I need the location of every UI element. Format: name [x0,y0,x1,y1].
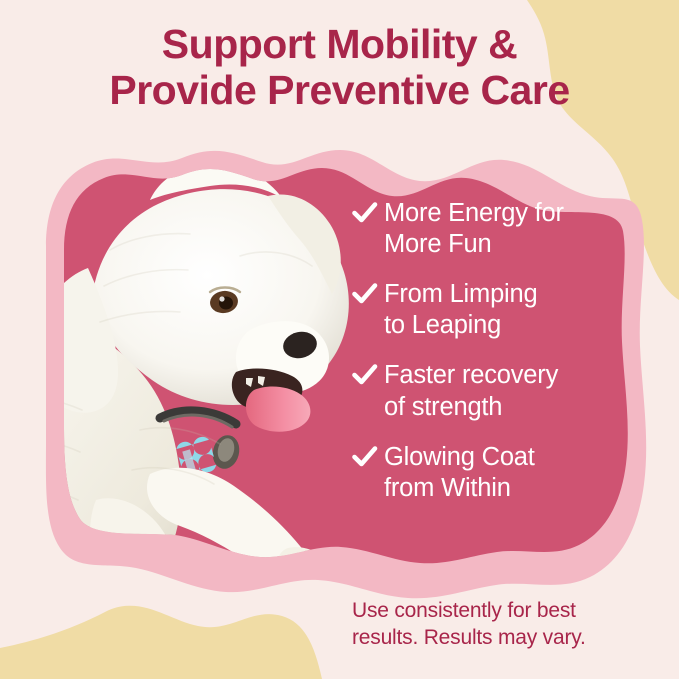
benefit-line-2: to Leaping [384,311,501,339]
benefits-list: More Energy for More Fun From Limping to… [352,198,652,523]
paw-pad [288,583,331,618]
benefit-line-1: More Energy for [384,199,564,227]
benefit-text: From Limping to Leaping [384,279,537,341]
check-icon [352,283,384,304]
check-icon [352,364,384,385]
list-item: More Energy for More Fun [352,198,652,260]
check-icon [352,446,384,467]
heading-line-2: Provide Preventive Care [0,68,679,114]
heading-line-1: Support Mobility & [0,22,679,68]
benefit-line-2: of strength [384,393,502,421]
dog-legs [20,468,338,632]
page-title: Support Mobility & Provide Preventive Ca… [0,22,679,114]
benefit-text: Glowing Coat from Within [384,442,535,504]
benefit-line-2: More Fun [384,230,492,258]
promo-poster: Support Mobility & Provide Preventive Ca… [0,0,679,679]
footnote-line-1: Use consistently for best [352,598,662,625]
check-icon [352,202,384,223]
footnote-line-2: results. Results may vary. [352,625,662,652]
benefit-line-1: Glowing Coat [384,443,535,471]
dog-muzzle [232,321,329,432]
benefit-line-1: Faster recovery [384,361,558,389]
disclaimer-text: Use consistently for best results. Resul… [352,598,662,652]
benefit-line-1: From Limping [384,280,537,308]
benefit-text: Faster recovery of strength [384,360,558,422]
list-item: Faster recovery of strength [352,360,652,422]
benefit-text: More Energy for More Fun [384,198,564,260]
list-item: From Limping to Leaping [352,279,652,341]
benefit-line-2: from Within [384,474,511,502]
list-item: Glowing Coat from Within [352,442,652,504]
